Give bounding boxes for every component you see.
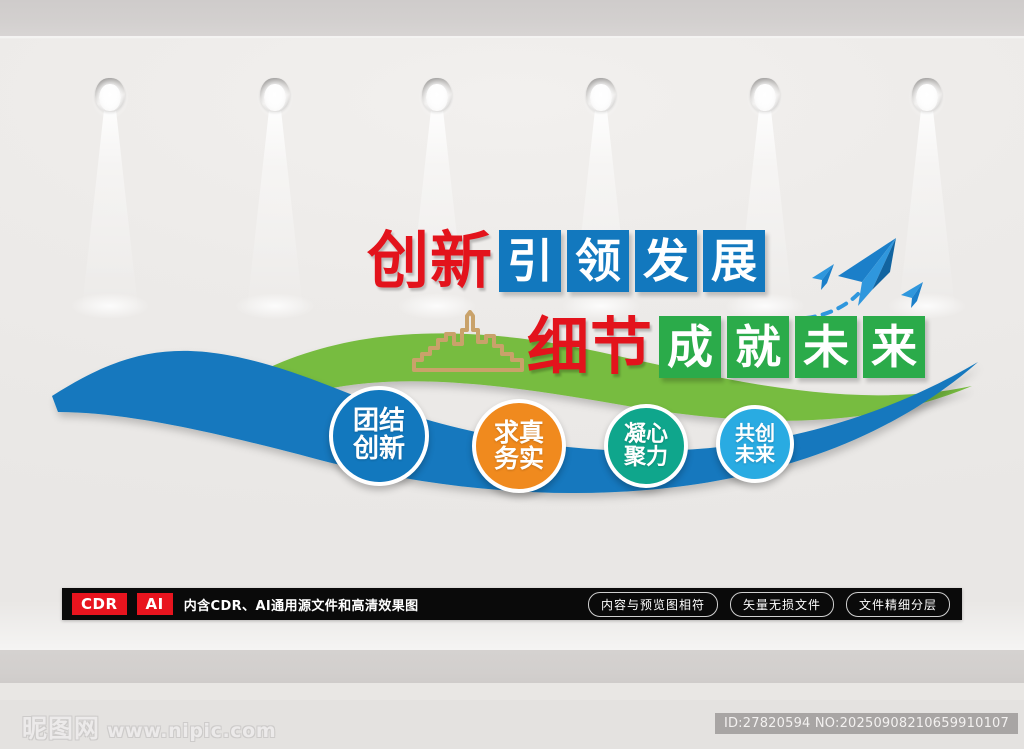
headline-box-char: 引 <box>499 230 561 292</box>
paper-plane-large-icon <box>838 238 896 306</box>
headline-box-char: 展 <box>703 230 765 292</box>
file-info-note: 内含CDR、AI通用源文件和高清效果图 <box>184 595 419 614</box>
paper-plane-group <box>800 232 935 324</box>
headline-box-char: 发 <box>635 230 697 292</box>
slogan-line-bottom: 务实 <box>494 446 544 473</box>
feature-pill: 矢量无损文件 <box>730 592 834 617</box>
headline-line-2: 细节 成 就 未 来 <box>527 316 925 378</box>
slogan-line-top: 凝心 <box>624 423 668 446</box>
slogan-line-bottom: 未来 <box>735 444 775 465</box>
paper-plane-small-right-icon <box>901 282 923 308</box>
asset-id-badge: ID:27820594 NO:20250908210659910107 <box>715 713 1018 734</box>
slogan-line-top: 共创 <box>735 423 775 444</box>
watermark-site-url: www.nipic.com <box>107 720 276 742</box>
headline-box-char: 领 <box>567 230 629 292</box>
slogan-circle-3: 凝心 聚力 <box>604 404 688 488</box>
headline-box-char: 未 <box>795 316 857 378</box>
format-badge-cdr: CDR <box>72 593 127 616</box>
screenshot-canvas: 创新 引 领 发 展 细节 成 就 未 来 团结 创新 求真 务实 凝心 聚力 … <box>0 0 1024 749</box>
paper-plane-small-left-icon <box>812 264 834 290</box>
plane-trail-dashes <box>806 294 858 318</box>
slogan-circle-2: 求真 务实 <box>472 399 566 493</box>
footer-bar: 昵图网 www.nipic.com ID:27820594 NO:2025090… <box>0 700 1024 749</box>
file-info-bar: CDR AI 内含CDR、AI通用源文件和高清效果图 内容与预览图相符 矢量无损… <box>62 588 962 620</box>
headline-red-2: 细节 <box>527 316 653 378</box>
slogan-line-bottom: 聚力 <box>624 446 668 469</box>
headline-box-char: 就 <box>727 316 789 378</box>
slogan-circle-1: 团结 创新 <box>329 386 429 486</box>
headline-box-char: 成 <box>659 316 721 378</box>
feature-pill-group: 内容与预览图相符 矢量无损文件 文件精细分层 <box>588 592 962 617</box>
slogan-line-top: 团结 <box>353 408 405 436</box>
slogan-circle-4: 共创 未来 <box>716 405 794 483</box>
site-watermark: 昵图网 www.nipic.com <box>22 709 276 745</box>
headline-red-1: 创新 <box>367 230 493 292</box>
feature-pill: 内容与预览图相符 <box>588 592 718 617</box>
slogan-line-top: 求真 <box>494 420 544 447</box>
watermark-site-name: 昵图网 <box>22 709 100 745</box>
headline-line-1: 创新 引 领 发 展 <box>367 230 765 292</box>
city-skyline-icon <box>412 310 532 372</box>
feature-pill: 文件精细分层 <box>846 592 950 617</box>
format-badge-ai: AI <box>137 593 173 616</box>
slogan-line-bottom: 创新 <box>353 436 405 464</box>
headline-box-char: 来 <box>863 316 925 378</box>
